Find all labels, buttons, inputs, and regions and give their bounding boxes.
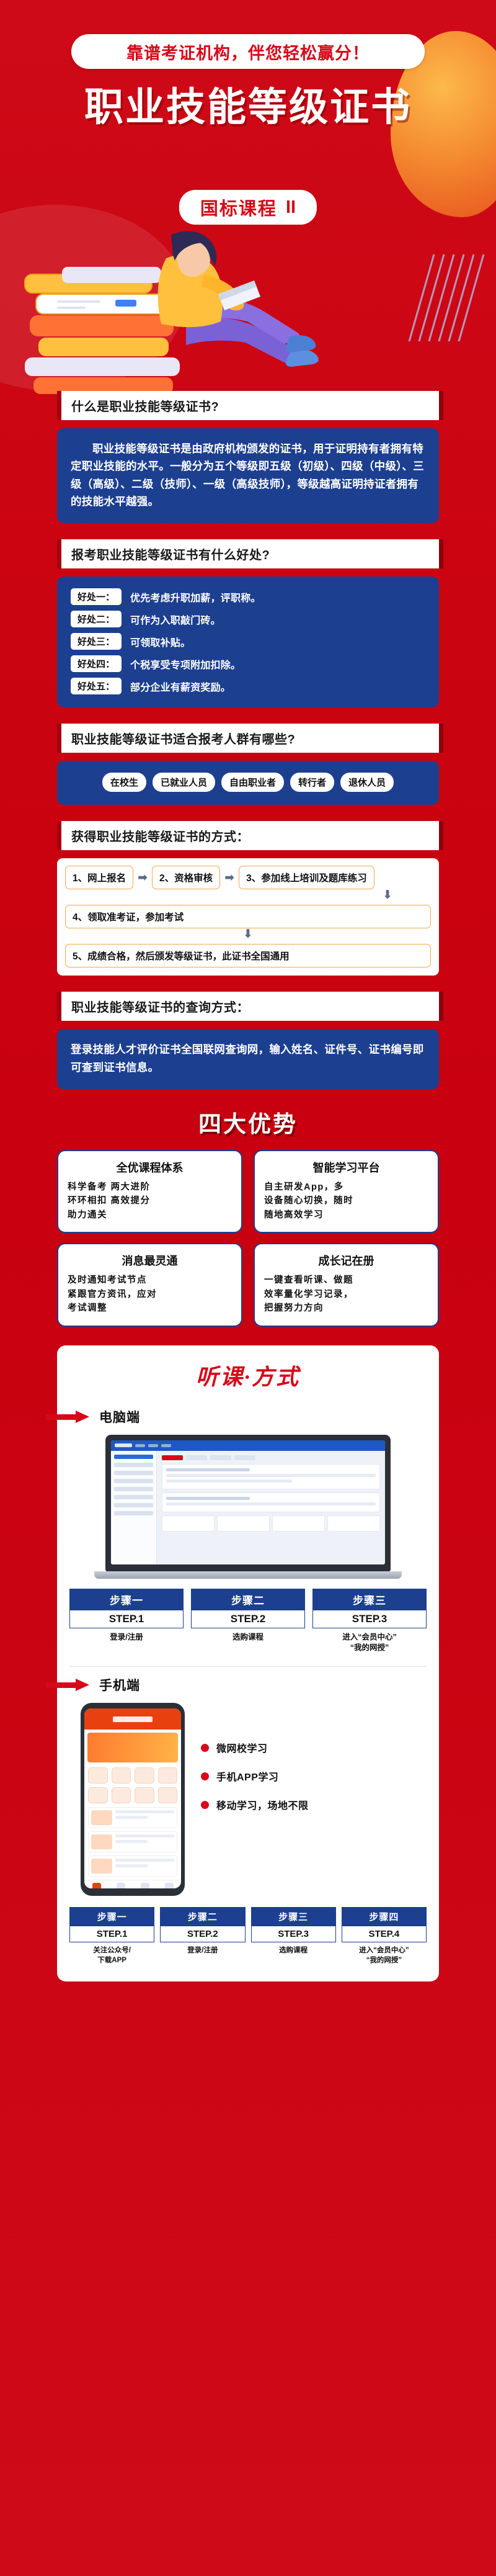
arrow-marker-icon bbox=[46, 1679, 92, 1691]
mobile-label-row: 手机端 bbox=[46, 1676, 403, 1694]
phone-screen bbox=[84, 1708, 181, 1888]
step-head: 步骤二 bbox=[191, 1589, 305, 1610]
list-item: 好处一： 优先考虑升职加薪，评职称。 bbox=[71, 588, 425, 605]
benefit-text: 个税享受专项附加扣除。 bbox=[130, 657, 241, 671]
section-heading-text: 获得职业技能等级证书的方式： bbox=[71, 827, 249, 845]
mobile-step: 步骤一 STEP.1 关注公众号/ 下载APP bbox=[69, 1907, 154, 1965]
step-code: STEP.4 bbox=[342, 1926, 427, 1942]
step-desc: 关注公众号/ 下载APP bbox=[69, 1942, 154, 1965]
what-is-paragraph: 职业技能等级证书是由政府机构颁发的证书，用于证明持有者拥有特定职业技能的水平。一… bbox=[71, 440, 425, 510]
advantage-body: 自主研发App，多 设备随心切换，随时 随地高效学习 bbox=[264, 1180, 428, 1222]
mock-app-tabbar bbox=[84, 1880, 181, 1888]
laptop-screen bbox=[105, 1435, 391, 1571]
benefit-text: 可领取补贴。 bbox=[130, 634, 190, 649]
flow-row-3: 5、成绩合格，然后颁发等级证书，此证书全国通用 bbox=[65, 944, 431, 967]
poster-root: 靠谱考证机构，伴您轻松赢分！ 职业技能等级证书 国标课程 II bbox=[0, 0, 496, 2576]
step-code: STEP.2 bbox=[191, 1610, 305, 1628]
step-code: STEP.1 bbox=[69, 1610, 184, 1628]
card-query: 登录技能人才评价证书全国联网查询网，输入姓名、证件号、证书编号即可查到证书信息。 bbox=[57, 1029, 439, 1089]
list-item: 好处三： 可领取补贴。 bbox=[71, 633, 425, 650]
list-item: 好处二： 可作为入职敲门砖。 bbox=[71, 611, 425, 627]
flow-row-2: 4、领取准考证，参加考试 bbox=[65, 905, 431, 928]
advantage-card: 智能学习平台 自主研发App，多 设备随心切换，随时 随地高效学习 bbox=[254, 1150, 439, 1233]
audience-tag-list: 在校生 已就业人员 自由职业者 转行者 退休人员 bbox=[71, 773, 425, 792]
step-desc: 登录/注册 bbox=[160, 1942, 245, 1956]
flow-step-3: 3、参加线上培训及题库练习 bbox=[239, 866, 374, 889]
step-head: 步骤三 bbox=[312, 1589, 427, 1610]
course-badge: 国标课程 II bbox=[179, 190, 317, 225]
laptop-base bbox=[94, 1571, 402, 1579]
content-column: 什么是职业技能等级证书? 职业技能等级证书是由政府机构颁发的证书，用于证明持有者… bbox=[57, 391, 439, 1981]
advantage-body: 及时通知考试节点 紧跟官方资讯，应对 考试调整 bbox=[68, 1273, 232, 1315]
bullet-text: 手机APP学习 bbox=[216, 1769, 278, 1784]
arrow-right-icon: ➡ bbox=[224, 872, 234, 884]
benefit-text: 优先考虑升职加薪，评职称。 bbox=[130, 590, 261, 604]
mobile-step: 步骤四 STEP.4 进入“会员中心” “我的网授” bbox=[342, 1907, 427, 1965]
mobile-showcase: 微网校学习 手机APP学习 移动学习，场地不限 bbox=[69, 1703, 427, 1896]
advantage-title: 成长记在册 bbox=[264, 1252, 428, 1268]
step-head: 步骤三 bbox=[251, 1907, 336, 1926]
bullet-dot-icon bbox=[201, 1772, 209, 1780]
pc-label-row: 电脑端 bbox=[46, 1407, 403, 1426]
benefit-tag: 好处三： bbox=[71, 633, 122, 650]
section-heading-query: 职业技能等级证书的查询方式： bbox=[57, 992, 439, 1021]
advantage-body: 科学备考 两大进阶 环环相扣 高效提分 助力通关 bbox=[68, 1180, 232, 1222]
step-head: 步骤一 bbox=[69, 1907, 154, 1926]
mock-app-banner bbox=[87, 1733, 178, 1762]
audience-tag: 已就业人员 bbox=[153, 773, 215, 792]
step-head: 步骤二 bbox=[160, 1907, 245, 1926]
advantages-grid: 全优课程体系 科学备考 两大进阶 环环相扣 高效提分 助力通关 智能学习平台 自… bbox=[57, 1150, 439, 1327]
mobile-bullet-list: 微网校学习 手机APP学习 移动学习，场地不限 bbox=[201, 1703, 309, 1826]
step-desc: 进入“会员中心” “我的网授” bbox=[342, 1942, 427, 1965]
step-head: 步骤一 bbox=[69, 1589, 184, 1610]
list-item: 移动学习，场地不限 bbox=[201, 1797, 309, 1812]
pc-steps-row: 步骤一 STEP.1 登录/注册 步骤二 STEP.2 选购课程 步骤三 STE… bbox=[69, 1589, 427, 1653]
advantages-title: 四大优势 bbox=[57, 1105, 439, 1139]
step-desc: 选购课程 bbox=[251, 1942, 336, 1956]
arrow-down-icon: ⬇ bbox=[65, 889, 431, 902]
query-paragraph: 登录技能人才评价证书全国联网查询网，输入姓名、证件号、证书编号即可查到证书信息。 bbox=[71, 1041, 425, 1076]
mock-topbar bbox=[111, 1440, 385, 1451]
list-item: 手机APP学习 bbox=[201, 1769, 309, 1784]
mock-sidebar bbox=[111, 1451, 157, 1564]
audience-tag: 自由职业者 bbox=[221, 773, 284, 792]
mobile-step: 步骤三 STEP.3 选购课程 bbox=[251, 1907, 336, 1965]
laptop-mockup bbox=[105, 1435, 391, 1579]
mobile-steps-row: 步骤一 STEP.1 关注公众号/ 下载APP 步骤二 STEP.2 登录/注册… bbox=[69, 1907, 427, 1965]
list-item: 好处五： 部分企业有薪资奖励。 bbox=[71, 678, 425, 694]
bullet-dot-icon bbox=[201, 1801, 209, 1809]
mobile-label-text: 手机端 bbox=[99, 1676, 140, 1694]
card-benefits: 好处一： 优先考虑升职加薪，评职称。 好处二： 可作为入职敲门砖。 好处三： 可… bbox=[57, 577, 439, 707]
ribbon-banner: 靠谱考证机构，伴您轻松赢分！ bbox=[71, 34, 425, 69]
benefit-text: 部分企业有薪资奖励。 bbox=[130, 679, 231, 694]
card-what-is: 职业技能等级证书是由政府机构颁发的证书，用于证明持有者拥有特定职业技能的水平。一… bbox=[57, 428, 439, 523]
section-heading-benefits: 报考职业技能等级证书有什么好处? bbox=[57, 539, 439, 568]
list-item: 微网校学习 bbox=[201, 1740, 309, 1755]
section-heading-text: 职业技能等级证书的查询方式： bbox=[71, 997, 249, 1015]
mock-main bbox=[157, 1451, 385, 1564]
audience-tag: 退休人员 bbox=[340, 773, 394, 792]
benefit-tag: 好处四： bbox=[71, 655, 122, 672]
flow-step-5: 5、成绩合格，然后颁发等级证书，此证书全国通用 bbox=[65, 944, 431, 967]
card-flow-steps: 1、网上报名 ➡ 2、资格审核 ➡ 3、参加线上培训及题库练习 ⬇ 4、领取准考… bbox=[57, 858, 439, 976]
pc-step: 步骤一 STEP.1 登录/注册 bbox=[69, 1589, 184, 1653]
course-badge-number: II bbox=[286, 197, 296, 218]
benefit-text: 可作为入职敲门砖。 bbox=[130, 612, 221, 627]
bullet-dot-icon bbox=[201, 1744, 209, 1752]
audience-tag: 在校生 bbox=[102, 773, 146, 792]
step-desc: 进入“会员中心” “我的网授” bbox=[312, 1628, 427, 1653]
advantage-card: 消息最灵通 及时通知考试节点 紧跟官方资讯，应对 考试调整 bbox=[57, 1243, 242, 1326]
listen-panel: 听课·方式 电脑端 bbox=[57, 1345, 439, 1982]
arrow-marker-icon bbox=[46, 1411, 92, 1423]
section-heading-text: 职业技能等级证书适合报考人群有哪些? bbox=[71, 729, 295, 747]
step-code: STEP.2 bbox=[160, 1926, 245, 1942]
step-code: STEP.1 bbox=[69, 1926, 154, 1942]
flow-step-4: 4、领取准考证，参加考试 bbox=[65, 905, 431, 928]
advantages-title-text: 四大优势 bbox=[198, 1111, 298, 1137]
section-heading-text: 什么是职业技能等级证书? bbox=[71, 397, 219, 415]
advantage-title: 智能学习平台 bbox=[264, 1159, 428, 1175]
advantage-title: 全优课程体系 bbox=[68, 1159, 232, 1175]
benefit-tag: 好处五： bbox=[71, 678, 122, 694]
step-code: STEP.3 bbox=[312, 1610, 427, 1628]
mobile-step: 步骤二 STEP.2 登录/注册 bbox=[160, 1907, 245, 1965]
card-audience: 在校生 已就业人员 自由职业者 转行者 退休人员 bbox=[57, 761, 439, 805]
flow-step-1: 1、网上报名 bbox=[65, 866, 133, 889]
arrow-right-icon: ➡ bbox=[138, 872, 148, 884]
hero-illustration bbox=[0, 230, 496, 394]
flow-step-2: 2、资格审核 bbox=[152, 866, 220, 889]
bullet-text: 微网校学习 bbox=[216, 1740, 268, 1755]
ribbon-text: 靠谱考证机构，伴您轻松赢分！ bbox=[126, 40, 370, 64]
pc-label-text: 电脑端 bbox=[99, 1407, 140, 1426]
page-title-text: 职业技能等级证书 bbox=[84, 86, 412, 129]
step-desc: 登录/注册 bbox=[69, 1628, 184, 1643]
mock-app-header bbox=[84, 1708, 181, 1730]
laptop-screen-content bbox=[111, 1440, 385, 1564]
step-desc: 选购课程 bbox=[191, 1628, 305, 1643]
mock-app-icon-grid bbox=[84, 1766, 181, 1807]
arrow-down-icon: ⬇ bbox=[65, 928, 431, 941]
page-title: 职业技能等级证书 bbox=[0, 76, 496, 132]
section-heading-how-to-get: 获得职业技能等级证书的方式： bbox=[57, 821, 439, 850]
section-heading-audience: 职业技能等级证书适合报考人群有哪些? bbox=[57, 724, 439, 753]
audience-tag: 转行者 bbox=[290, 773, 334, 792]
benefit-tag: 好处二： bbox=[71, 611, 122, 627]
phone-mockup bbox=[81, 1703, 185, 1896]
advantage-card: 全优课程体系 科学备考 两大进阶 环环相扣 高效提分 助力通关 bbox=[57, 1150, 242, 1233]
bullet-text: 移动学习，场地不限 bbox=[216, 1797, 309, 1812]
flow-row-1: 1、网上报名 ➡ 2、资格审核 ➡ 3、参加线上培训及题库练习 bbox=[65, 866, 431, 889]
advantage-title: 消息最灵通 bbox=[68, 1252, 232, 1268]
mock-body bbox=[111, 1451, 385, 1564]
list-item: 好处四： 个税享受专项附加扣除。 bbox=[71, 655, 425, 672]
listen-title: 听课·方式 bbox=[69, 1359, 427, 1391]
step-code: STEP.3 bbox=[251, 1926, 336, 1942]
divider bbox=[69, 1666, 427, 1667]
advantage-body: 一键查看听课、做题 效率量化学习记录， 把握努力方向 bbox=[264, 1273, 428, 1315]
listen-title-text: 听课·方式 bbox=[196, 1365, 300, 1389]
course-badge-label: 国标课程 bbox=[200, 194, 277, 220]
pc-step: 步骤二 STEP.2 选购课程 bbox=[191, 1589, 305, 1653]
benefit-tag: 好处一： bbox=[71, 588, 122, 605]
pc-step: 步骤三 STEP.3 进入“会员中心” “我的网授” bbox=[312, 1589, 427, 1653]
mock-app-list bbox=[84, 1807, 181, 1877]
section-heading-what-is: 什么是职业技能等级证书? bbox=[57, 391, 439, 420]
step-head: 步骤四 bbox=[342, 1907, 427, 1926]
advantage-card: 成长记在册 一键查看听课、做题 效率量化学习记录， 把握努力方向 bbox=[254, 1243, 439, 1326]
section-heading-text: 报考职业技能等级证书有什么好处? bbox=[71, 545, 270, 563]
